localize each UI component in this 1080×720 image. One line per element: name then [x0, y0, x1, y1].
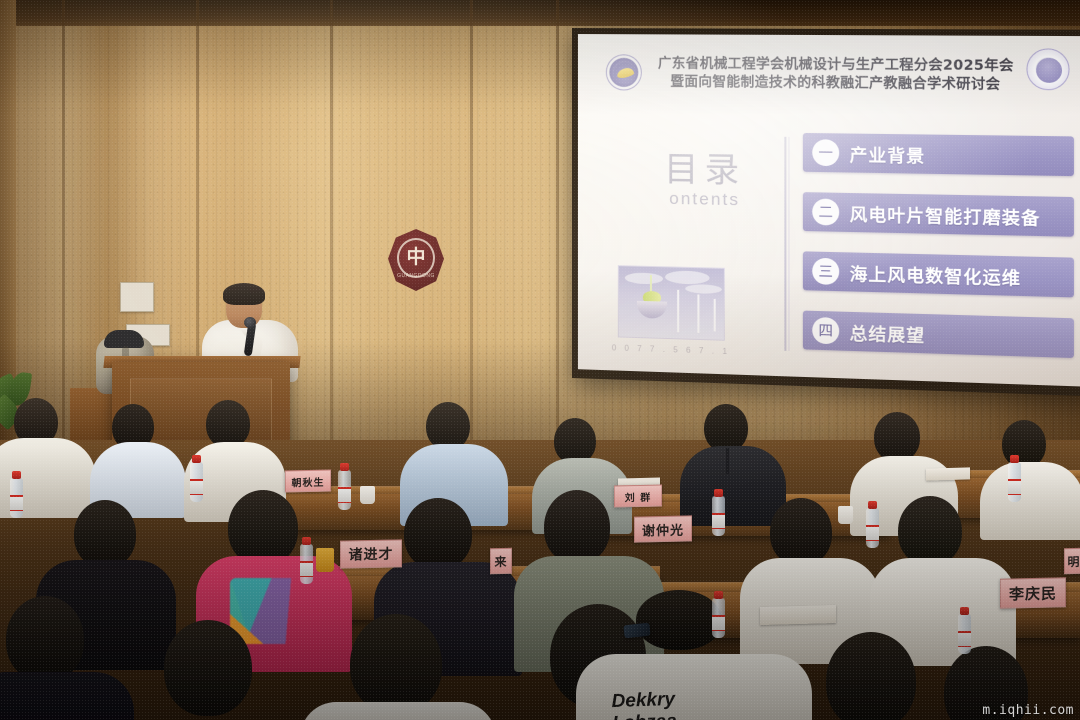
- name-placard: 李庆民: [1000, 577, 1066, 608]
- toc-label-1: 产业背景: [850, 140, 926, 167]
- name-placard: 刘 群: [614, 484, 662, 507]
- toc-item-1: 一 产业背景: [803, 133, 1074, 176]
- water-bottle: [866, 508, 879, 548]
- society-emblem-logo-icon: [606, 54, 642, 90]
- water-bottle: [338, 470, 351, 510]
- slide-credits-text: 0 0 7 7 . 5 6 7 . 1: [612, 343, 730, 356]
- toc-label-4: 总结展望: [850, 319, 926, 347]
- toc-badge-2: 二: [812, 198, 839, 225]
- name-placard: 来: [490, 548, 512, 574]
- lanyard: [726, 448, 729, 474]
- toc-badge-3: 三: [812, 258, 839, 285]
- toc-badge-4: 四: [812, 317, 839, 344]
- paper-cup: [360, 486, 375, 504]
- slide-title-line2: 暨面向智能制造技术的科教融汇产教融合学术研讨会: [656, 73, 1016, 94]
- crest-band-text: GUANGDONG: [395, 272, 437, 280]
- slide-title-line1: 广东省机械工程学会机械设计与生产工程分会2025年会: [658, 56, 1014, 75]
- toc-badge-1: 一: [812, 139, 839, 166]
- toc-item-2: 二 风电叶片智能打磨装备: [803, 192, 1074, 237]
- toc-heading-cn: 目录: [634, 141, 776, 193]
- water-bottle: [300, 544, 313, 584]
- university-seal-logo-icon: [1026, 48, 1069, 90]
- smartphone: [623, 623, 650, 639]
- toc-item-3: 三 海上风电数智化运维: [803, 251, 1074, 297]
- water-bottle: [1008, 462, 1021, 502]
- water-bottle: [958, 614, 971, 654]
- toc-heading: 目录 ontents: [634, 141, 776, 211]
- wall-notice-small: [120, 282, 154, 312]
- shirt-graphic-print: [230, 578, 342, 644]
- name-placard: 谢仲光: [634, 515, 692, 542]
- toc-label-3: 海上风电数智化运维: [850, 259, 1021, 289]
- slide-toc-list: 一 产业背景 二 风电叶片智能打磨装备 三 海上风电数智化运维 四 总结展望: [803, 133, 1074, 379]
- name-placard: 诸进才: [340, 539, 402, 568]
- watermark: m.iqhii.com: [982, 703, 1074, 718]
- water-bottle: [712, 496, 725, 536]
- paper-cup: [838, 506, 853, 524]
- speaker-hair: [223, 283, 265, 305]
- conference-photo-scene: 中 GUANGDONG 广东省机械工程学会机械设计与生产工程分会2025年会 暨…: [0, 0, 1080, 720]
- projected-slide: 广东省机械工程学会机械设计与生产工程分会2025年会 暨面向智能制造技术的科教融…: [578, 34, 1080, 387]
- projection-screen: 广东省机械工程学会机械设计与生产工程分会2025年会 暨面向智能制造技术的科教融…: [572, 28, 1080, 397]
- paper-sheet: [760, 605, 836, 625]
- wall-crest-plaque: 中 GUANGDONG: [385, 225, 447, 297]
- slide-header: 广东省机械工程学会机械设计与生产工程分会2025年会 暨面向智能制造技术的科教融…: [578, 44, 1080, 101]
- water-bottle: [712, 598, 725, 638]
- toc-heading-en: ontents: [634, 188, 776, 211]
- toc-label-2: 风电叶片智能打磨装备: [850, 200, 1041, 230]
- name-placard: 明: [1064, 548, 1080, 574]
- slide-thumbnail-image: [618, 265, 725, 341]
- microphone-head-icon: [244, 317, 256, 328]
- drink-cup: [316, 548, 334, 572]
- slide-title: 广东省机械工程学会机械设计与生产工程分会2025年会 暨面向智能制造技术的科教融…: [656, 54, 1016, 94]
- name-placard: 朝秋生: [285, 470, 331, 493]
- toc-vertical-divider: [784, 137, 789, 351]
- paper-sheet: [926, 467, 970, 480]
- shirt-text: Dekkry Labzaa: [611, 689, 677, 720]
- crest-glyph: 中: [403, 245, 429, 269]
- water-bottle: [190, 462, 203, 502]
- toc-item-4: 四 总结展望: [803, 311, 1074, 358]
- water-bottle: [10, 478, 23, 518]
